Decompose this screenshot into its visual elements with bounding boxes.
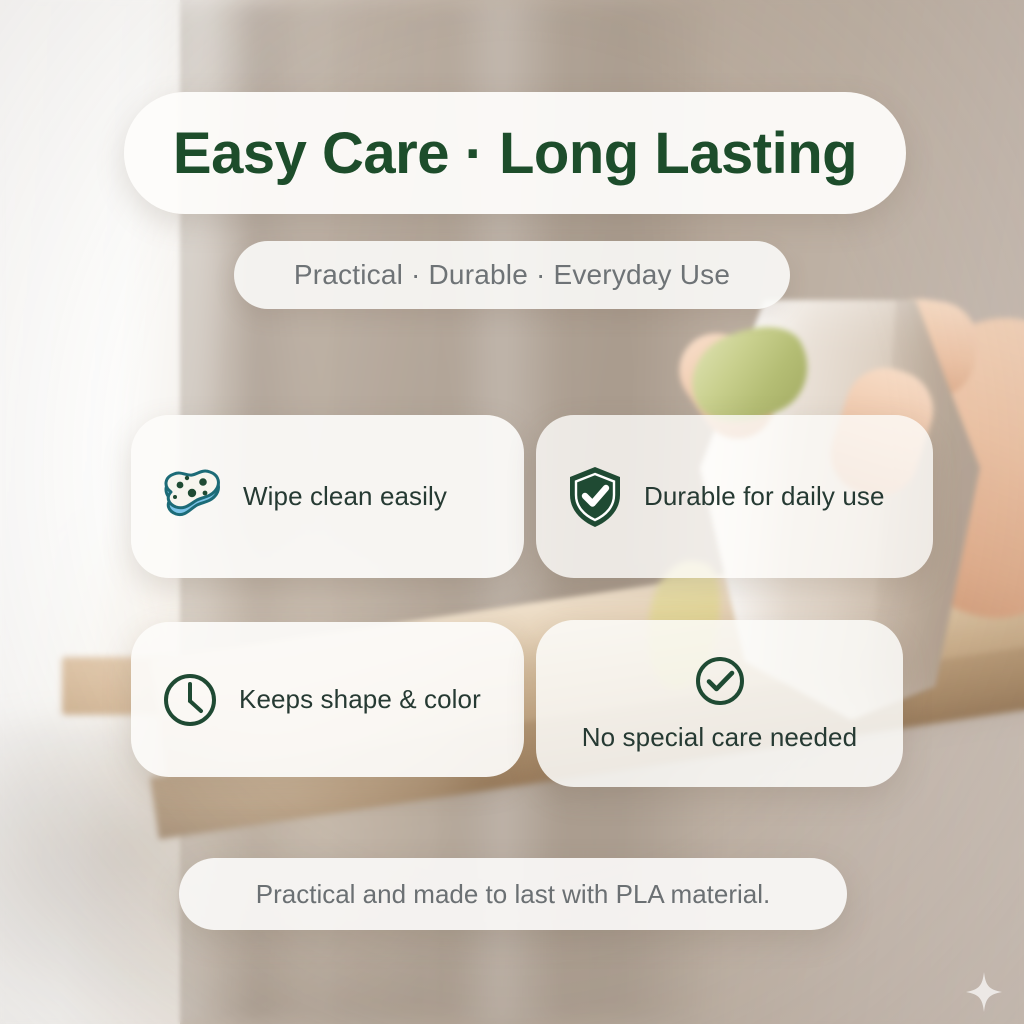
sparkle-icon [966, 972, 1002, 1012]
circle-check-icon [693, 654, 747, 708]
shield-check-icon [566, 465, 624, 529]
page-subtitle: Practical · Durable · Everyday Use [294, 259, 730, 291]
clock-icon [161, 671, 219, 729]
feature-label: No special care needed [582, 722, 857, 753]
feature-label: Keeps shape & color [239, 684, 481, 715]
feature-card-durable: Durable for daily use [536, 415, 933, 578]
page-title: Easy Care · Long Lasting [173, 120, 857, 187]
title-pill: Easy Care · Long Lasting [124, 92, 906, 214]
sponge-icon [161, 469, 223, 525]
feature-label: Durable for daily use [644, 481, 885, 512]
subtitle-pill: Practical · Durable · Everyday Use [234, 241, 790, 309]
footer-pill: Practical and made to last with PLA mate… [179, 858, 847, 930]
feature-card-wipe-clean: Wipe clean easily [131, 415, 524, 578]
feature-card-no-special-care: No special care needed [536, 620, 903, 787]
feature-label: Wipe clean easily [243, 481, 447, 512]
footer-note: Practical and made to last with PLA mate… [256, 879, 770, 910]
feature-card-keeps-shape: Keeps shape & color [131, 622, 524, 777]
infographic-canvas: Easy Care · Long Lasting Practical · Dur… [0, 0, 1024, 1024]
